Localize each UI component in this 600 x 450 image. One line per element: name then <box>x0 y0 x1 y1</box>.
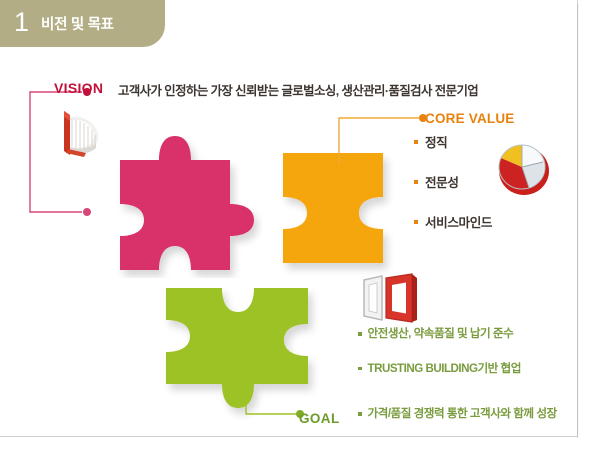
vision-label: VISION <box>54 80 103 96</box>
core-value-item-label: 정직 <box>425 132 447 151</box>
list-item: TRUSTING BUILDING기반 협업 <box>358 361 573 377</box>
bullet-icon <box>358 367 362 371</box>
goal-item-label: 가격/품질 경쟁력 통한 고객사와 함께 성장 <box>368 406 557 422</box>
pie-chart-icon <box>493 138 555 200</box>
core-value-item-label: 서비스마인드 <box>425 212 492 231</box>
puzzle-piece-vision[interactable] <box>112 128 262 278</box>
bullet-icon <box>358 332 362 336</box>
list-item: 안전생산, 약속품질 및 납기 준수 <box>358 326 573 342</box>
list-item: 서비스마인드 <box>414 212 564 231</box>
core-value-label: CORE VALUE <box>425 111 515 126</box>
slide-canvas: 1 비전 및 목표 <box>0 0 600 450</box>
puzzle-piece-goal[interactable] <box>158 270 323 420</box>
spiral-staircase-icon <box>50 103 110 163</box>
puzzle-piece-core-value[interactable] <box>275 145 405 275</box>
goal-label: GOAL <box>299 411 340 426</box>
doors-icon <box>360 272 422 328</box>
bullet-icon <box>414 220 418 224</box>
bullet-icon <box>414 140 418 144</box>
header-section-title: 비전 및 목표 <box>41 13 114 34</box>
bullet-icon <box>414 180 418 184</box>
vision-statement: 고객사가 인정하는 가장 신뢰받는 글로벌소싱, 생산관리·품질검사 전문기업 <box>118 81 478 99</box>
list-item: 가격/품질 경쟁력 통한 고객사와 함께 성장 <box>358 406 573 422</box>
header-section-number: 1 <box>14 9 29 36</box>
goal-item-label: 안전생산, 약속품질 및 납기 준수 <box>368 326 514 342</box>
goal-item-label: TRUSTING BUILDING기반 협업 <box>368 361 521 377</box>
bullet-icon <box>358 412 362 416</box>
core-value-item-label: 전문성 <box>425 172 459 191</box>
goal-list: 안전생산, 약속품질 및 납기 준수 TRUSTING BUILDING기반 협… <box>358 326 573 441</box>
header-tab: 1 비전 및 목표 <box>0 0 165 47</box>
